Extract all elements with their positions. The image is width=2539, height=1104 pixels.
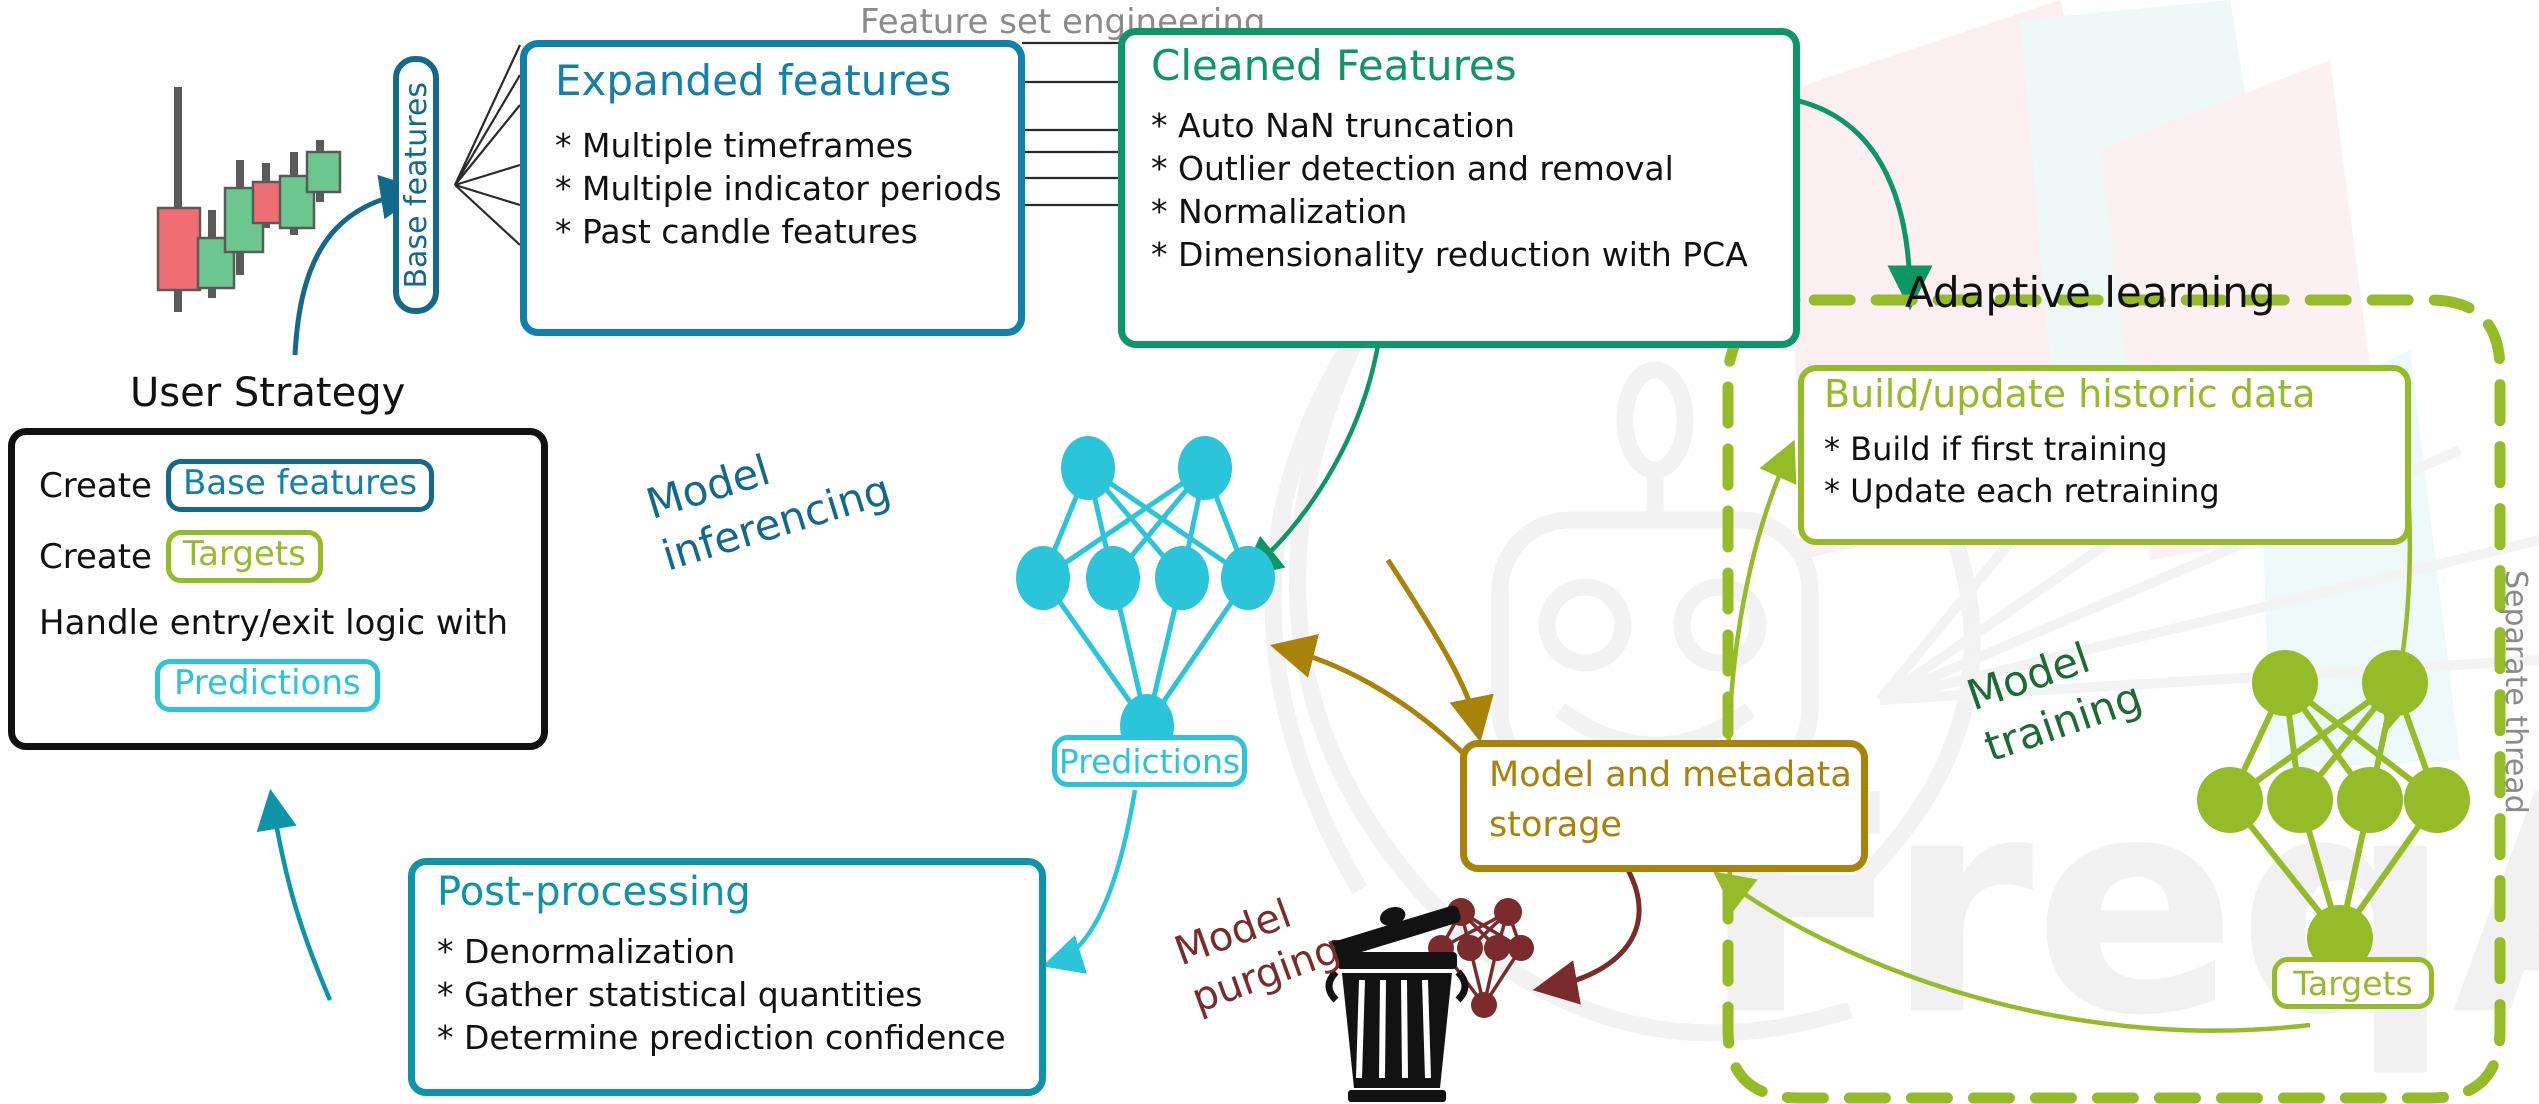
build-update-bullet: * Build if first training (1824, 429, 2220, 471)
expanded-features-bullet: * Multiple indicator periods (555, 168, 1002, 211)
trash-can-icon (1328, 889, 1465, 1102)
cleaned-features-bullet: * Auto NaN truncation (1151, 105, 1748, 148)
purged-net-nodes (1428, 898, 1534, 1018)
post-processing-bullet: * Denormalization (437, 931, 1006, 974)
expanded-features-bullets: * Multiple timeframes * Multiple indicat… (555, 125, 1002, 254)
candle-5 (280, 152, 314, 235)
inference-net-nodes (1016, 436, 1275, 758)
arrow-storage-to-purging (1545, 870, 1639, 988)
arrow-training-to-storage (1722, 878, 2310, 1031)
model-purging-label: Model purging (1168, 877, 1347, 1024)
post-processing-box: Post-processing * Denormalization * Gath… (408, 858, 1046, 1096)
candle-1 (158, 87, 200, 312)
expanded-features-box: Expanded features * Multiple timeframes … (520, 40, 1025, 336)
cleaned-features-bullet: * Outlier detection and removal (1151, 148, 1748, 191)
model-inferencing-label: Model inferencing (640, 411, 897, 583)
user-strategy-box: Create Base features Create Targets Hand… (8, 428, 548, 750)
post-processing-bullets: * Denormalization * Gather statistical q… (437, 931, 1006, 1060)
targets-chip: Targets (2272, 957, 2434, 1009)
fan-lines-base-to-expanded (455, 45, 520, 245)
predictions-chip: Predictions (1052, 735, 1247, 787)
arrow-cleaned-to-adaptive (1795, 100, 1910, 298)
targets-inline-chip: Targets (166, 530, 323, 583)
build-update-bullets: * Build if first training * Update each … (1824, 429, 2220, 512)
cleaned-features-bullet: * Normalization (1151, 191, 1748, 234)
user-strategy-create-label-2: Create (39, 537, 152, 577)
candle-4 (253, 163, 287, 228)
cleaned-features-bullets: * Auto NaN truncation * Outlier detectio… (1151, 105, 1748, 277)
base-features-chip: Base features (393, 56, 439, 314)
arrow-storage-to-inference-net (1282, 648, 1470, 760)
candle-3 (225, 160, 263, 275)
candle-2 (198, 210, 234, 298)
post-processing-bullet: * Determine prediction confidence (437, 1017, 1006, 1060)
model-metadata-storage-box: Model and metadata storage (1460, 740, 1868, 872)
user-strategy-create-label: Create (39, 466, 152, 506)
post-processing-bullet: * Gather statistical quantities (437, 974, 1006, 1017)
storage-line1: Model and metadata (1489, 755, 1852, 795)
rails-expanded-to-cleaned (1022, 43, 1120, 205)
predictions-chip-label: Predictions (1059, 745, 1240, 778)
user-strategy-entry-exit-text: Handle entry/exit logic with (39, 603, 508, 643)
build-update-title: Build/update historic data (1824, 375, 2316, 415)
base-features-inline-chip: Base features (166, 459, 434, 512)
build-update-bullet: * Update each retraining (1824, 471, 2220, 513)
expanded-features-bullet: * Past candle features (555, 211, 1002, 254)
post-processing-title: Post-processing (437, 871, 751, 913)
user-strategy-title: User Strategy (130, 370, 405, 416)
build-update-historic-data-box: Build/update historic data * Build if fi… (1798, 365, 2411, 545)
arrow-postprocessing-to-user-strategy (272, 800, 330, 1000)
purged-net-edges (1441, 912, 1521, 1005)
adaptive-learning-title: Adaptive learning (1905, 268, 2276, 317)
arrow-to-storage (1388, 560, 1478, 730)
cleaned-features-bullet: * Dimensionality reduction with PCA (1151, 234, 1748, 277)
arrow-cleaned-to-inference-net (1250, 345, 1378, 570)
model-training-label: Model training (1960, 619, 2149, 774)
predictions-inline-chip: Predictions (155, 659, 380, 712)
targets-chip-label: Targets (2293, 967, 2412, 1000)
base-features-chip-label: Base features (399, 82, 434, 289)
cleaned-features-title: Cleaned Features (1151, 44, 1517, 88)
separate-thread-label: Separate thread (2498, 570, 2533, 814)
training-net-nodes (2197, 650, 2470, 971)
expanded-features-title: Expanded features (555, 59, 951, 103)
storage-line2: storage (1489, 805, 1622, 845)
candle-6 (307, 140, 340, 202)
expanded-features-bullet: * Multiple timeframes (555, 125, 1002, 168)
cleaned-features-box: Cleaned Features * Auto NaN truncation *… (1118, 28, 1800, 348)
freqai-flow-diagram: FreqAI (0, 0, 2539, 1104)
arrow-predictions-to-postprocessing (1053, 790, 1135, 963)
